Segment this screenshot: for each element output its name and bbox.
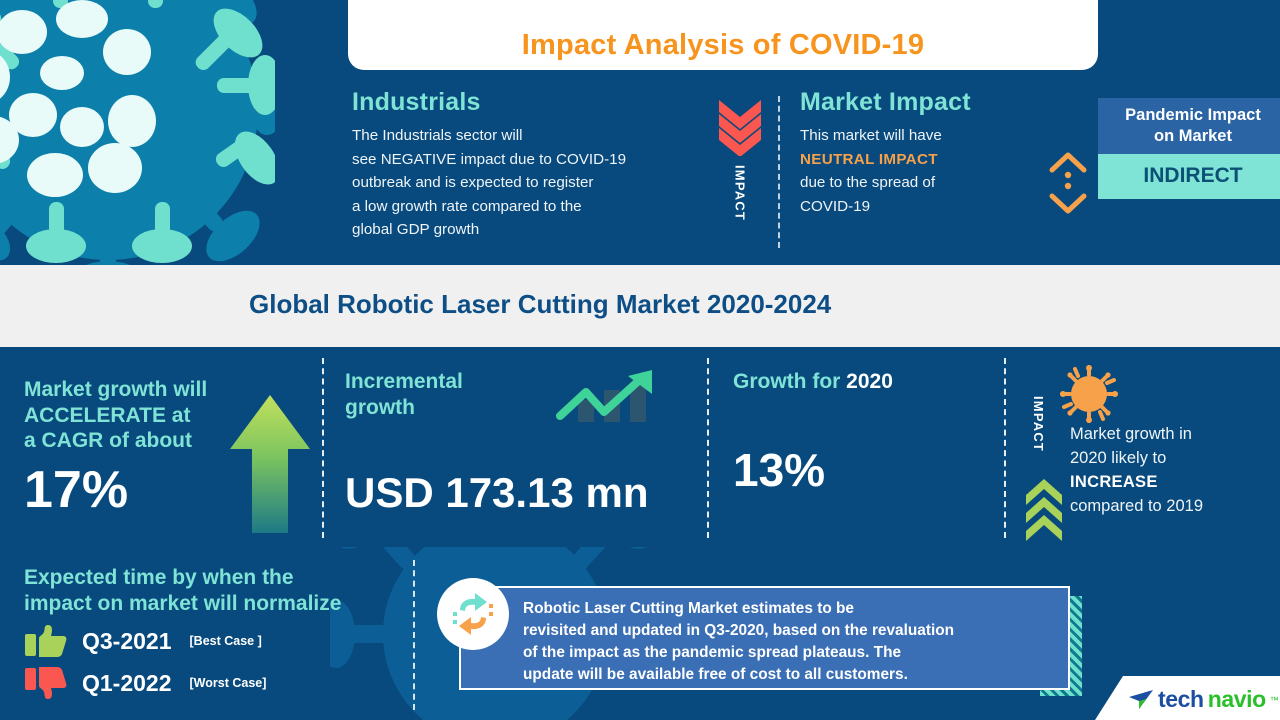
page-title: Impact Analysis of COVID-19: [522, 29, 924, 62]
pandemic-impact-box: Pandemic Impact on Market INDIRECT: [1098, 98, 1280, 199]
stat-growth-2020-label-year: 2020: [846, 370, 893, 393]
market-title-band: Global Robotic Laser Cutting Market 2020…: [0, 265, 1280, 347]
impact-indicator-negative: IMPACT: [714, 100, 766, 226]
stat-cagr-label-line-2: ACCELERATE at: [24, 403, 239, 429]
market-impact-section: Market Impact This market will have NEUT…: [800, 88, 1040, 218]
logo-trademark: ™: [1270, 695, 1279, 705]
stat-growth-2020: Growth for 2020 13%: [733, 369, 983, 493]
divider-stats-2: [707, 358, 709, 538]
normalize-row-worst-case: Q1-2022 [Worst Case]: [24, 666, 424, 700]
growth-chart-icon: [556, 368, 666, 430]
stat-cagr-value: 17%: [24, 464, 239, 516]
pandemic-impact-value: INDIRECT: [1098, 154, 1280, 199]
divider-bottom-vertical: [413, 560, 415, 710]
chevron-up-triple-icon: [1026, 479, 1062, 541]
stat-growth-2020-label: Growth for 2020: [733, 369, 983, 395]
stat-incremental-label-line-2: growth: [345, 395, 545, 421]
normalize-quarter-worst: Q1-2022: [82, 670, 172, 697]
market-impact-line-1: This market will have: [800, 124, 1040, 148]
impact-label-negative: IMPACT: [733, 165, 748, 221]
normalize-heading-line-1: Expected time by when the: [24, 565, 424, 591]
logo-text-tech: tech: [1158, 686, 1204, 713]
industrials-line-5: global GDP growth: [352, 218, 712, 242]
divider-stats-3: [1004, 358, 1006, 538]
industrials-line-2: see NEGATIVE impact due to COVID-19: [352, 148, 712, 172]
pandemic-impact-heading-line-2: on Market: [1106, 126, 1280, 147]
technavio-logo[interactable]: technavio™: [1128, 686, 1279, 713]
market-impact-highlight: NEUTRAL IMPACT: [800, 151, 938, 168]
divider-vertical-top: [778, 96, 780, 248]
normalize-row-best-case: Q3-2021 [Best Case ]: [24, 624, 424, 658]
market-impact-line-3: COVID-19: [800, 195, 1040, 219]
stat-cagr: Market growth will ACCELERATE at a CAGR …: [24, 377, 239, 516]
stat-growth-2020-value: 13%: [733, 447, 983, 493]
callout-line-3: of the impact as the pandemic spread pla…: [523, 642, 1063, 664]
industrials-body: The Industrials sector will see NEGATIVE…: [352, 124, 712, 242]
callout-box: Robotic Laser Cutting Market estimates t…: [459, 586, 1070, 690]
impact-2020-text: Market growth in 2020 likely to INCREASE…: [1070, 423, 1280, 519]
refresh-cycle-icon: [447, 588, 499, 640]
industrials-heading: Industrials: [352, 88, 712, 117]
normalize-section: Expected time by when the impact on mark…: [24, 565, 424, 700]
impact-2020-highlight: INCREASE: [1070, 473, 1158, 491]
market-impact-heading: Market Impact: [800, 88, 1040, 117]
divider-stats-1: [322, 358, 324, 538]
normalize-heading: Expected time by when the impact on mark…: [24, 565, 424, 616]
market-impact-body: This market will have NEUTRAL IMPACT due…: [800, 124, 1040, 218]
stat-cagr-label-line-3: a CAGR of about: [24, 428, 239, 454]
stat-incremental-value: USD 173.13 mn: [345, 472, 545, 514]
infographic-root: Impact Analysis of COVID-19 Industrials …: [0, 0, 1280, 720]
virus-sun-icon: [1058, 363, 1120, 425]
impact-2020-line-3: compared to 2019: [1070, 495, 1280, 519]
market-impact-line-2: due to the spread of: [800, 171, 1040, 195]
industrials-section: Industrials The Industrials sector will …: [352, 88, 712, 242]
normalize-quarter-best: Q3-2021: [82, 628, 172, 655]
stat-growth-2020-label-prefix: Growth for: [733, 370, 846, 393]
arrows-up-down-icon: [1044, 150, 1092, 216]
callout-line-1: Robotic Laser Cutting Market estimates t…: [523, 598, 1063, 620]
arrow-up-icon: [228, 393, 312, 533]
chevron-down-triple-icon: [717, 100, 763, 156]
paper-plane-icon: [1128, 689, 1154, 711]
impact-2020-line-1: Market growth in: [1070, 423, 1280, 447]
industrials-line-4: a low growth rate compared to the: [352, 195, 712, 219]
stat-incremental-growth: Incremental growth USD 173.13 mn: [345, 369, 545, 514]
pandemic-impact-heading-line-1: Pandemic Impact: [1106, 105, 1280, 126]
normalize-case-worst: [Worst Case]: [190, 676, 267, 690]
stat-incremental-label-line-1: Incremental: [345, 369, 545, 395]
thumbs-up-icon: [24, 624, 68, 658]
pandemic-impact-heading: Pandemic Impact on Market: [1098, 98, 1280, 154]
callout-text: Robotic Laser Cutting Market estimates t…: [523, 598, 1063, 686]
stat-cagr-label-line-1: Market growth will: [24, 377, 239, 403]
normalize-case-best: [Best Case ]: [190, 634, 262, 648]
callout-line-4: update will be available free of cost to…: [523, 664, 1063, 686]
market-title: Global Robotic Laser Cutting Market 2020…: [249, 289, 831, 320]
refresh-badge: [437, 578, 509, 650]
callout-line-2: revisited and updated in Q3-2020, based …: [523, 620, 1063, 642]
industrials-line-3: outbreak and is expected to register: [352, 171, 712, 195]
normalize-heading-line-2: impact on market will normalize: [24, 591, 424, 617]
impact-label-2020: IMPACT: [1031, 396, 1046, 452]
stat-cagr-label: Market growth will ACCELERATE at a CAGR …: [24, 377, 239, 454]
logo-text-navio: navio: [1208, 686, 1266, 713]
industrials-line-1: The Industrials sector will: [352, 124, 712, 148]
impact-2020-line-2: 2020 likely to: [1070, 447, 1280, 471]
stat-incremental-label: Incremental growth: [345, 369, 545, 420]
page-title-card: Impact Analysis of COVID-19: [348, 0, 1098, 70]
thumbs-down-icon: [24, 666, 68, 700]
